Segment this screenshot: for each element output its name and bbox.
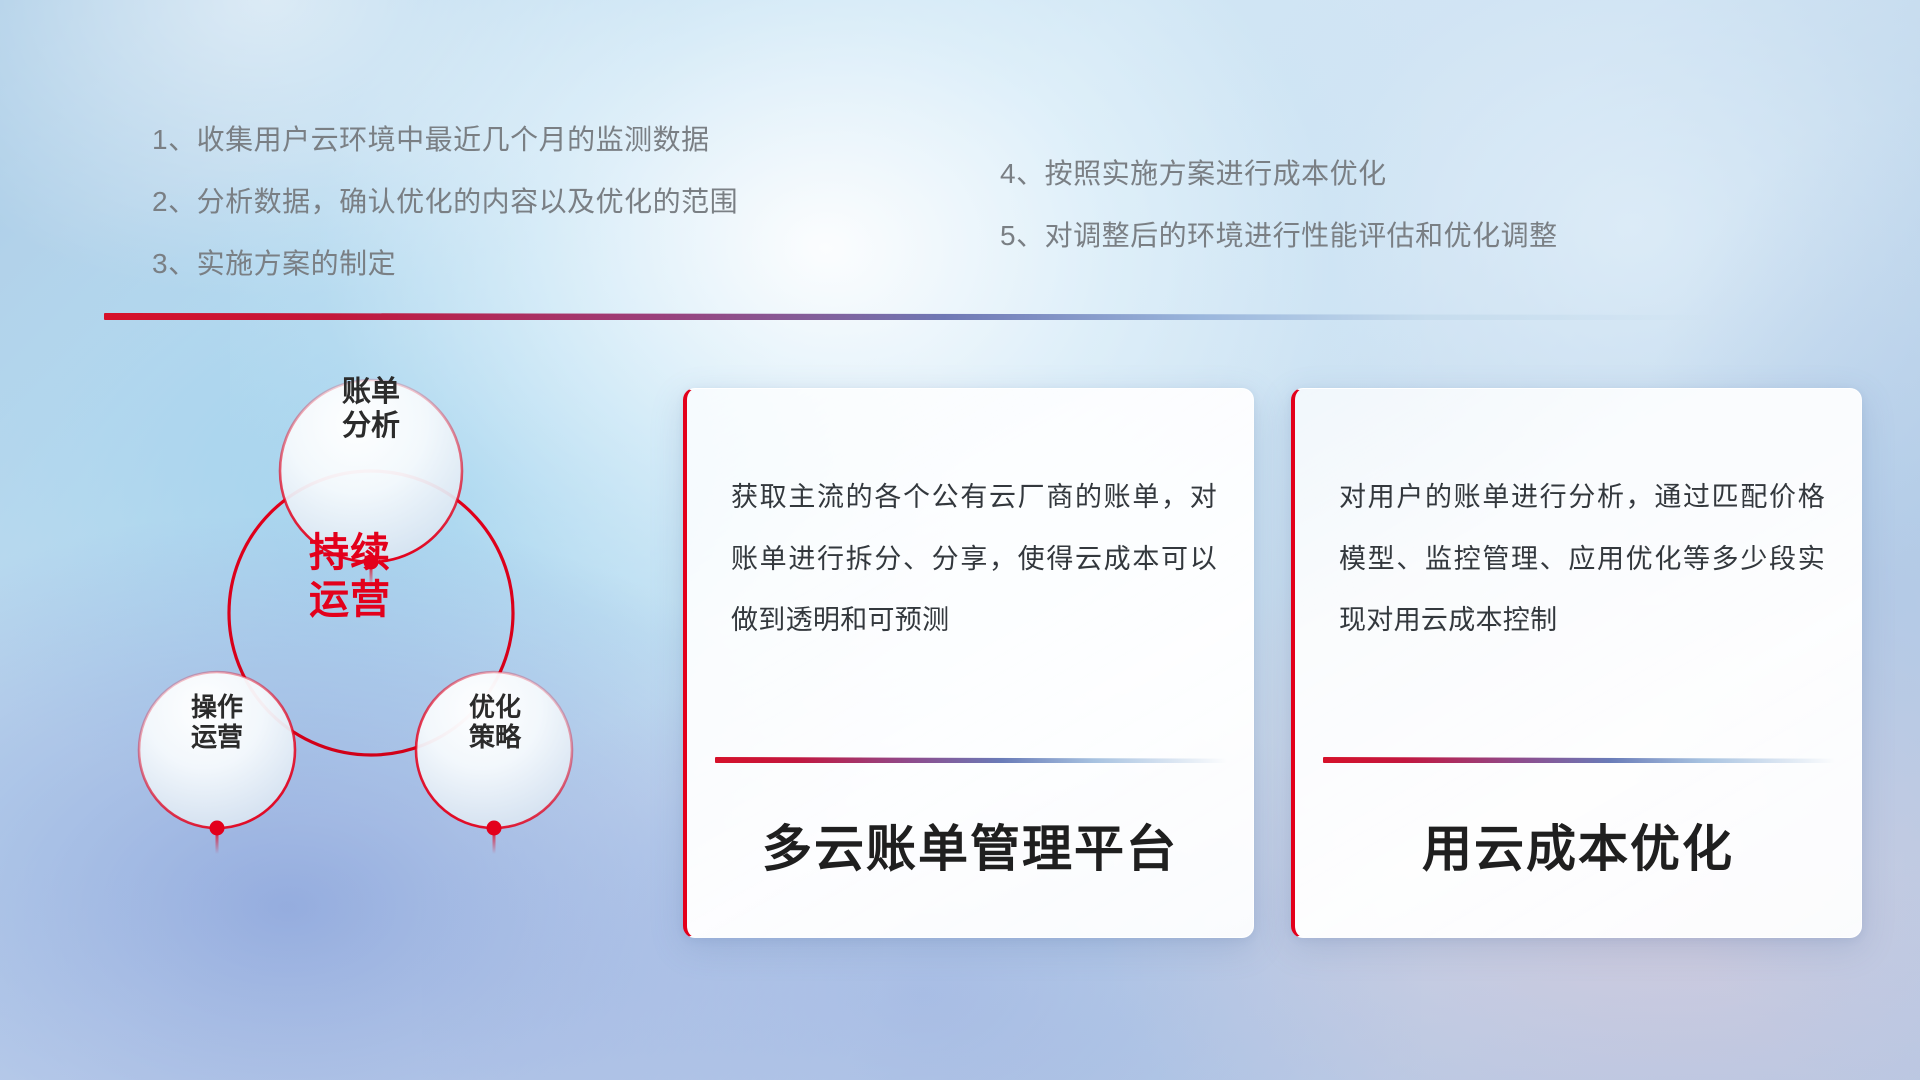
card-body-text: 对用户的账单进行分析，通过匹配价格模型、监控管理、应用优化等多少段实现对用云成本… [1339, 467, 1825, 652]
venn-label-operations-line1: 操作 [132, 692, 302, 722]
venn-dot-bottom-left [210, 821, 225, 836]
card-body-text: 获取主流的各个公有云厂商的账单，对账单进行拆分、分享，使得云成本可以做到透明和可… [731, 467, 1217, 652]
continuous-operations-diagram: 账单 分析 操作 运营 优化 策略 持续 运营 [90, 330, 610, 990]
venn-dot-bottom-right [487, 821, 502, 836]
step-item-4: 4、按照实施方案进行成本优化 [1000, 152, 1387, 192]
venn-center-label: 持续 运营 [255, 530, 445, 624]
venn-label-bill-analysis-line1: 账单 [286, 376, 456, 410]
card-cloud-cost-optimization[interactable]: 对用户的账单进行分析，通过匹配价格模型、监控管理、应用优化等多少段实现对用云成本… [1291, 388, 1862, 938]
step-item-1: 1、收集用户云环境中最近几个月的监测数据 [152, 118, 710, 158]
step-item-5: 5、对调整后的环境进行性能评估和优化调整 [1000, 214, 1558, 254]
process-steps-list: 1、收集用户云环境中最近几个月的监测数据 2、分析数据，确认优化的内容以及优化的… [0, 0, 1920, 290]
venn-label-optimization-strategy-line1: 优化 [410, 692, 580, 722]
venn-label-optimization-strategy: 优化 策略 [410, 692, 580, 752]
venn-label-bill-analysis-line2: 分析 [286, 410, 456, 444]
venn-center-label-line1: 持续 [255, 530, 445, 577]
card-title: 用云成本优化 [1295, 809, 1861, 881]
card-divider-rule [1323, 757, 1835, 763]
step-item-3: 3、实施方案的制定 [152, 242, 396, 282]
card-multi-cloud-billing-platform[interactable]: 获取主流的各个公有云厂商的账单，对账单进行拆分、分享，使得云成本可以做到透明和可… [683, 388, 1254, 938]
step-item-2: 2、分析数据，确认优化的内容以及优化的范围 [152, 180, 738, 220]
venn-label-bill-analysis: 账单 分析 [286, 376, 456, 443]
venn-label-operations: 操作 运营 [132, 692, 302, 752]
venn-center-label-line2: 运营 [255, 577, 445, 624]
card-title: 多云账单管理平台 [687, 809, 1253, 881]
venn-label-optimization-strategy-line2: 策略 [410, 722, 580, 752]
venn-label-operations-line2: 运营 [132, 722, 302, 752]
card-divider-rule [715, 757, 1227, 763]
